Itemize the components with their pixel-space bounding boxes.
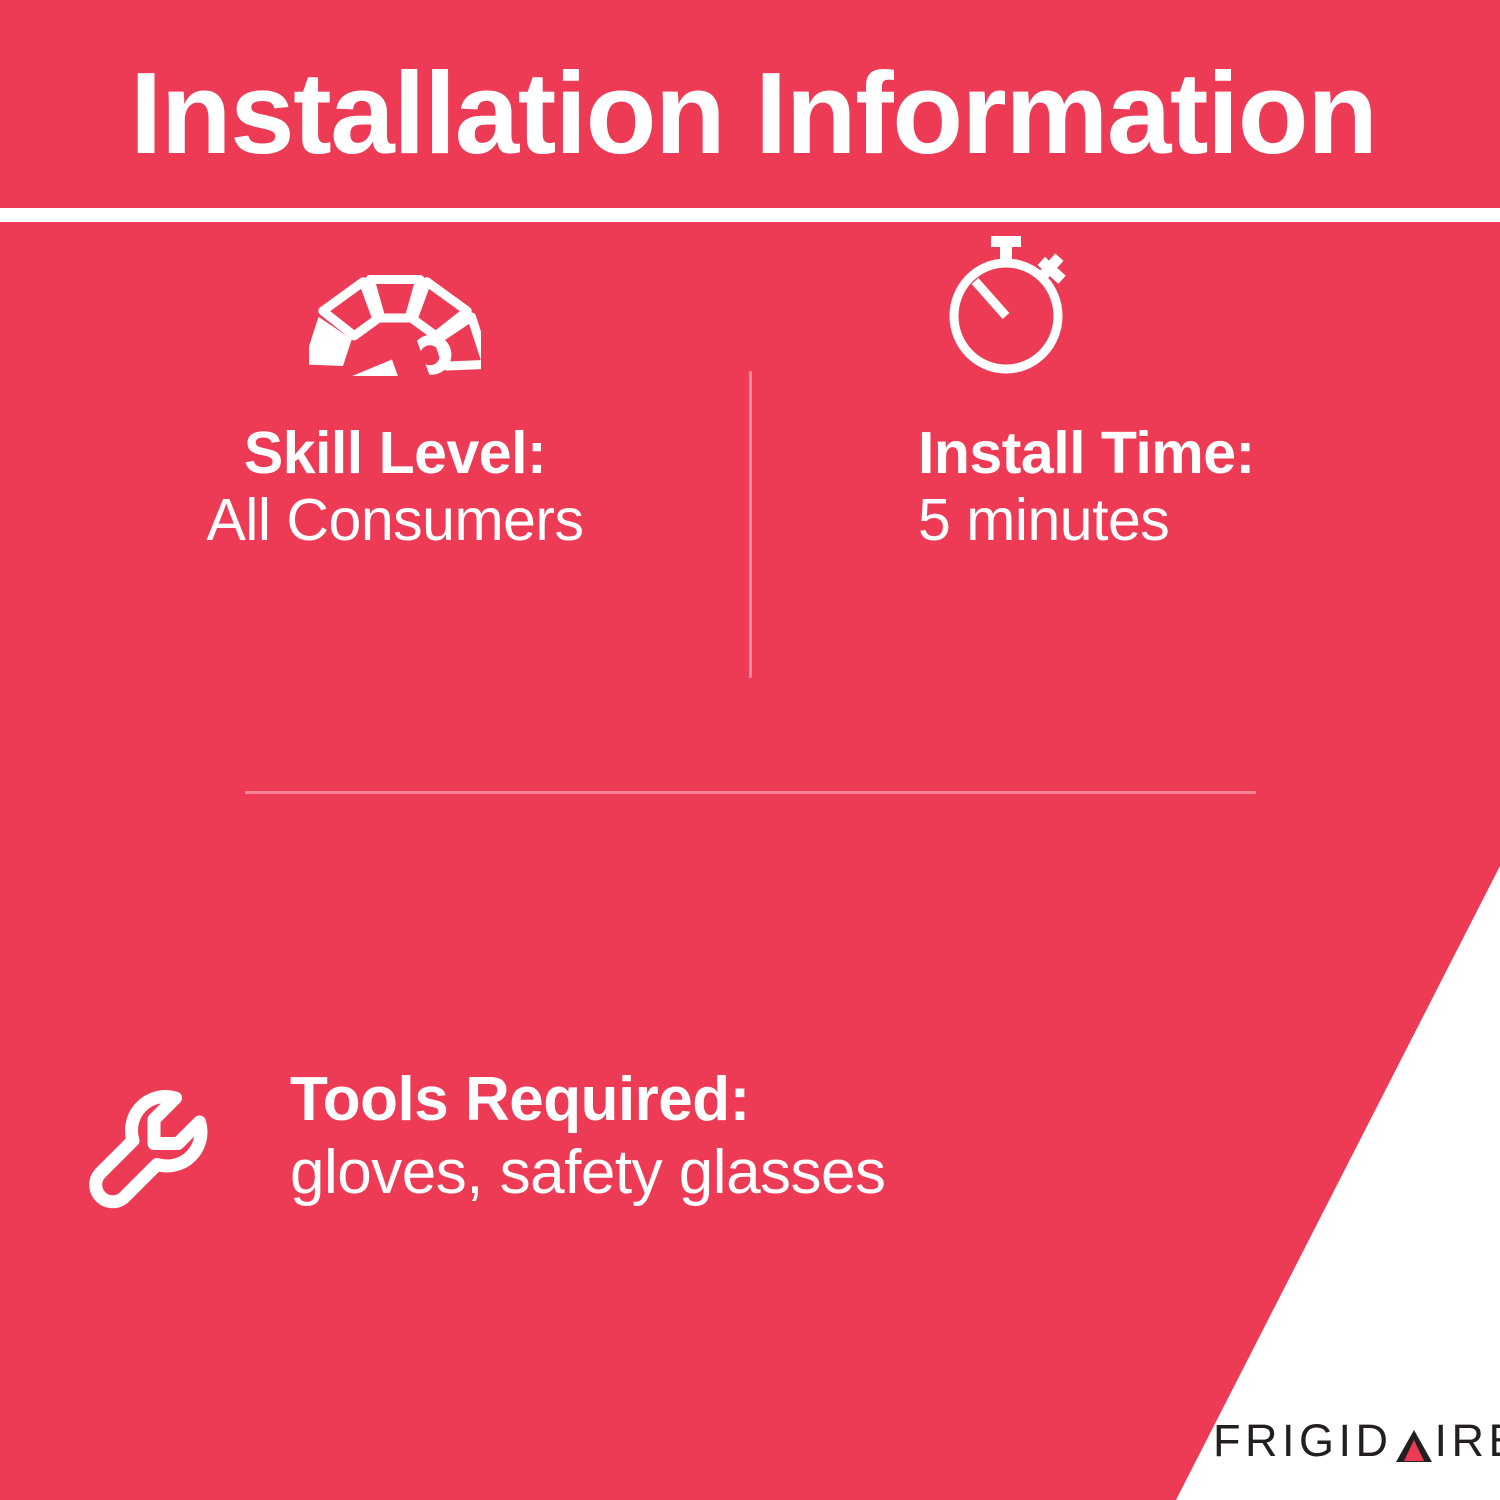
skill-gauge-icon	[309, 250, 481, 376]
info-row: Skill Level: All Consumers	[0, 222, 1500, 782]
header-divider	[0, 208, 1500, 222]
tools-required-label: Tools Required:	[290, 1065, 886, 1136]
skill-gauge-icon-wrap	[60, 222, 730, 382]
tools-text: Tools Required: gloves, safety glasses	[290, 1065, 886, 1210]
skill-level-value: All Consumers	[60, 486, 730, 556]
wrench-icon-wrap	[0, 1065, 290, 1225]
install-time-value: 5 minutes	[800, 486, 1440, 556]
install-time-block: Install Time: 5 minutes	[800, 222, 1440, 556]
page-title: Installation Information	[130, 55, 1376, 171]
wrench-icon	[79, 1081, 211, 1225]
stopwatch-icon-wrap	[800, 222, 1440, 382]
installation-info-card: Installation Information Skill Level: Al…	[0, 0, 1500, 1500]
skill-level-label: Skill Level:	[60, 420, 730, 486]
column-divider	[749, 371, 752, 678]
brand-triangle-icon	[1394, 1425, 1434, 1465]
brand-name-part2: IRE	[1435, 1418, 1500, 1463]
stopwatch-icon	[946, 228, 1072, 378]
header-band: Installation Information	[0, 0, 1500, 208]
install-time-label: Install Time:	[800, 420, 1440, 486]
tools-required-value: gloves, safety glasses	[290, 1136, 886, 1210]
brand-name-part1: FRIGID	[1213, 1418, 1393, 1463]
skill-level-block: Skill Level: All Consumers	[60, 222, 730, 556]
brand-logo: FRIGID IRE ®	[1213, 1418, 1500, 1463]
tools-required-block: Tools Required: gloves, safety glasses	[0, 1065, 1200, 1225]
section-divider	[245, 791, 1256, 794]
